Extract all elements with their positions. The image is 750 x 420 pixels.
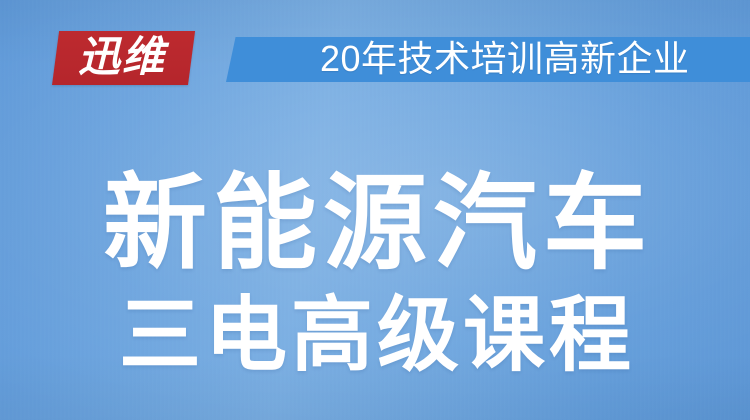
- brand-logo-text: 迅维: [62, 28, 182, 86]
- course-promo-poster: 20年技术培训高新企业 迅维 新能源汽车 三电高级课程: [0, 0, 750, 420]
- tagline-text: 20年技术培训高新企业: [320, 36, 690, 82]
- page-subtitle: 三电高级课程: [0, 291, 750, 381]
- page-title: 新能源汽车: [0, 168, 750, 280]
